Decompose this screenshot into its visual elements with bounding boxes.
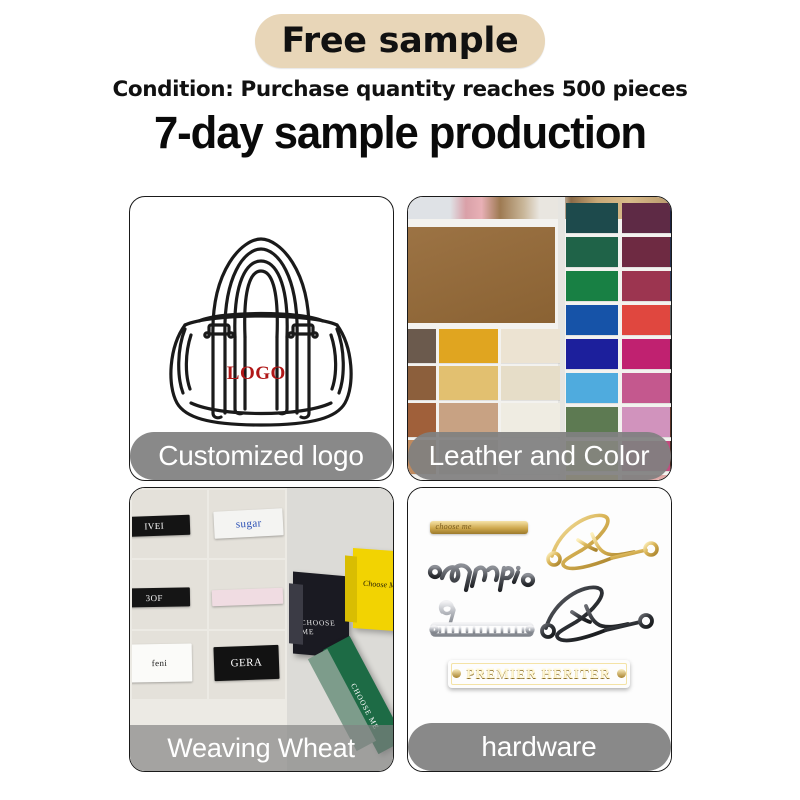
color-swatch <box>670 475 671 480</box>
card-customized-logo[interactable]: LOGO Customized logo <box>129 196 394 481</box>
label-card-black-text: CHOOSE ME <box>300 618 349 637</box>
large-brown-leather-sample <box>408 227 555 323</box>
hardware-plate-signature-black <box>530 580 662 652</box>
card-weaving-wheat-label-text: Weaving Wheat <box>167 735 355 762</box>
color-swatch <box>566 339 618 369</box>
hardware-plate-signature-gold <box>538 510 666 582</box>
promo-header: Free sample Condition: Purchase quantity… <box>0 0 800 156</box>
color-swatch <box>670 305 671 335</box>
color-swatch <box>439 366 498 400</box>
woven-label-tag: sugar <box>213 509 284 540</box>
simple-script-icon <box>426 556 538 594</box>
hardware-plate-collection <box>426 598 546 642</box>
woven-label-cell: feni <box>132 631 208 699</box>
bag-logo-text: LOGO <box>227 363 286 385</box>
page-title: 7-day sample production <box>12 109 788 156</box>
feature-card-grid: LOGO Customized logo Leather and Color <box>0 196 800 772</box>
color-swatch <box>622 305 671 335</box>
color-swatch <box>622 203 671 233</box>
color-swatch <box>566 305 618 335</box>
hardware-plate-choose-me: choose me <box>430 521 528 534</box>
color-swatch <box>670 271 671 301</box>
woven-label-tag: GERA <box>213 644 279 680</box>
color-swatch <box>439 329 498 363</box>
color-swatch <box>622 339 671 369</box>
signature-black-icon <box>530 580 662 652</box>
color-swatch <box>622 271 671 301</box>
woven-label-tag: 3OF <box>132 587 191 607</box>
free-sample-badge-label: Free sample <box>281 24 518 59</box>
condition-text: Condition: Purchase quantity reaches 500… <box>0 77 800 102</box>
card-weaving-wheat-label: Weaving Wheat <box>130 725 393 771</box>
hardware-plate-premier-heriter-text: PREMIER HERITER <box>466 666 610 682</box>
woven-label-cell: IVEI <box>132 490 208 558</box>
swatch-grid-far <box>670 203 671 480</box>
card-customized-logo-label: Customized logo <box>130 432 393 480</box>
color-swatch <box>622 237 671 267</box>
color-swatch <box>501 329 560 363</box>
card-customized-logo-label-text: Customized logo <box>158 442 364 470</box>
card-hardware-label-text: hardware <box>481 733 596 761</box>
color-swatch <box>501 366 560 400</box>
woven-label-cell: GERA <box>209 631 285 699</box>
woven-label-cell: sugar <box>209 490 285 558</box>
color-swatch <box>670 237 671 267</box>
signature-gold-icon <box>538 510 666 582</box>
card-leather-and-color-label: Leather and Color <box>408 432 671 480</box>
label-card-yellow-text: Choose Me <box>363 579 393 591</box>
collection-script-icon <box>426 598 546 642</box>
label-card-yellow: Choose Me <box>353 548 393 632</box>
premier-heriter-left-ring <box>452 669 461 678</box>
badge-row: Free sample <box>0 14 800 68</box>
color-swatch <box>566 203 618 233</box>
woven-label-cell <box>209 560 285 628</box>
free-sample-badge: Free sample <box>255 14 545 68</box>
hardware-plate-choose-me-text: choose me <box>436 522 472 531</box>
woven-label-tag: feni <box>132 644 193 683</box>
hardware-plate-simple <box>426 556 538 594</box>
color-swatch <box>408 329 436 363</box>
color-swatch <box>408 366 436 400</box>
woven-label-tag <box>212 588 283 607</box>
color-swatch <box>622 373 671 403</box>
color-swatch <box>566 373 618 403</box>
card-hardware-label: hardware <box>408 723 671 771</box>
premier-heriter-right-ring <box>617 669 626 678</box>
color-swatch <box>670 407 671 437</box>
color-swatch <box>670 339 671 369</box>
handbag-icon <box>151 217 371 447</box>
hardware-plate-premier-heriter: PREMIER HERITER <box>448 660 630 688</box>
card-weaving-wheat[interactable]: IVEIsugar3OFfeniGERA CHOOSE ME Choose Me <box>129 487 394 772</box>
label-card-yellow-fold <box>345 555 357 622</box>
label-card-black-fold <box>289 583 303 644</box>
color-swatch <box>670 203 671 233</box>
woven-label-tag: IVEI <box>132 515 191 538</box>
color-swatch <box>566 237 618 267</box>
card-leather-and-color[interactable]: Leather and Color <box>407 196 672 481</box>
card-leather-and-color-label-text: Leather and Color <box>429 442 650 470</box>
color-swatch <box>566 271 618 301</box>
card-hardware[interactable]: choose me <box>407 487 672 772</box>
color-swatch <box>670 373 671 403</box>
woven-label-cell: 3OF <box>132 560 208 628</box>
